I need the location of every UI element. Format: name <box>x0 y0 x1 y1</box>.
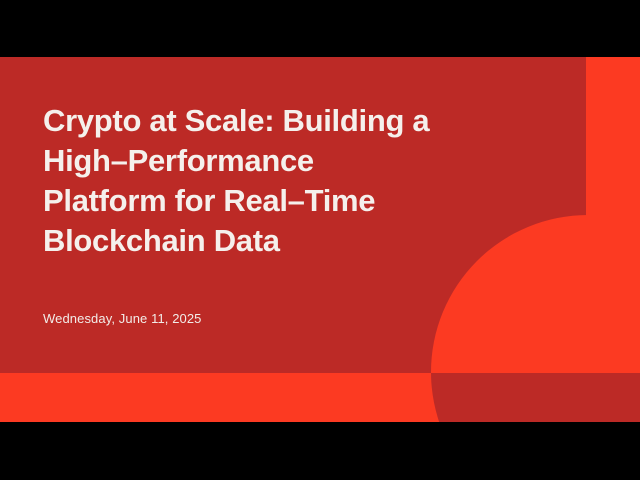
slide-text-block: Crypto at Scale: Building a High–Perform… <box>43 101 543 261</box>
letterbox-bottom-bar <box>0 422 640 480</box>
letterbox-top-bar <box>0 0 640 57</box>
presentation-slide: Crypto at Scale: Building a High–Perform… <box>0 57 640 422</box>
video-frame: Crypto at Scale: Building a High–Perform… <box>0 0 640 480</box>
slide-title: Crypto at Scale: Building a High–Perform… <box>43 101 543 261</box>
decorative-circle-lower <box>0 373 640 422</box>
decorative-circle-inverted <box>431 373 640 422</box>
slide-date: Wednesday, June 11, 2025 <box>43 310 202 328</box>
